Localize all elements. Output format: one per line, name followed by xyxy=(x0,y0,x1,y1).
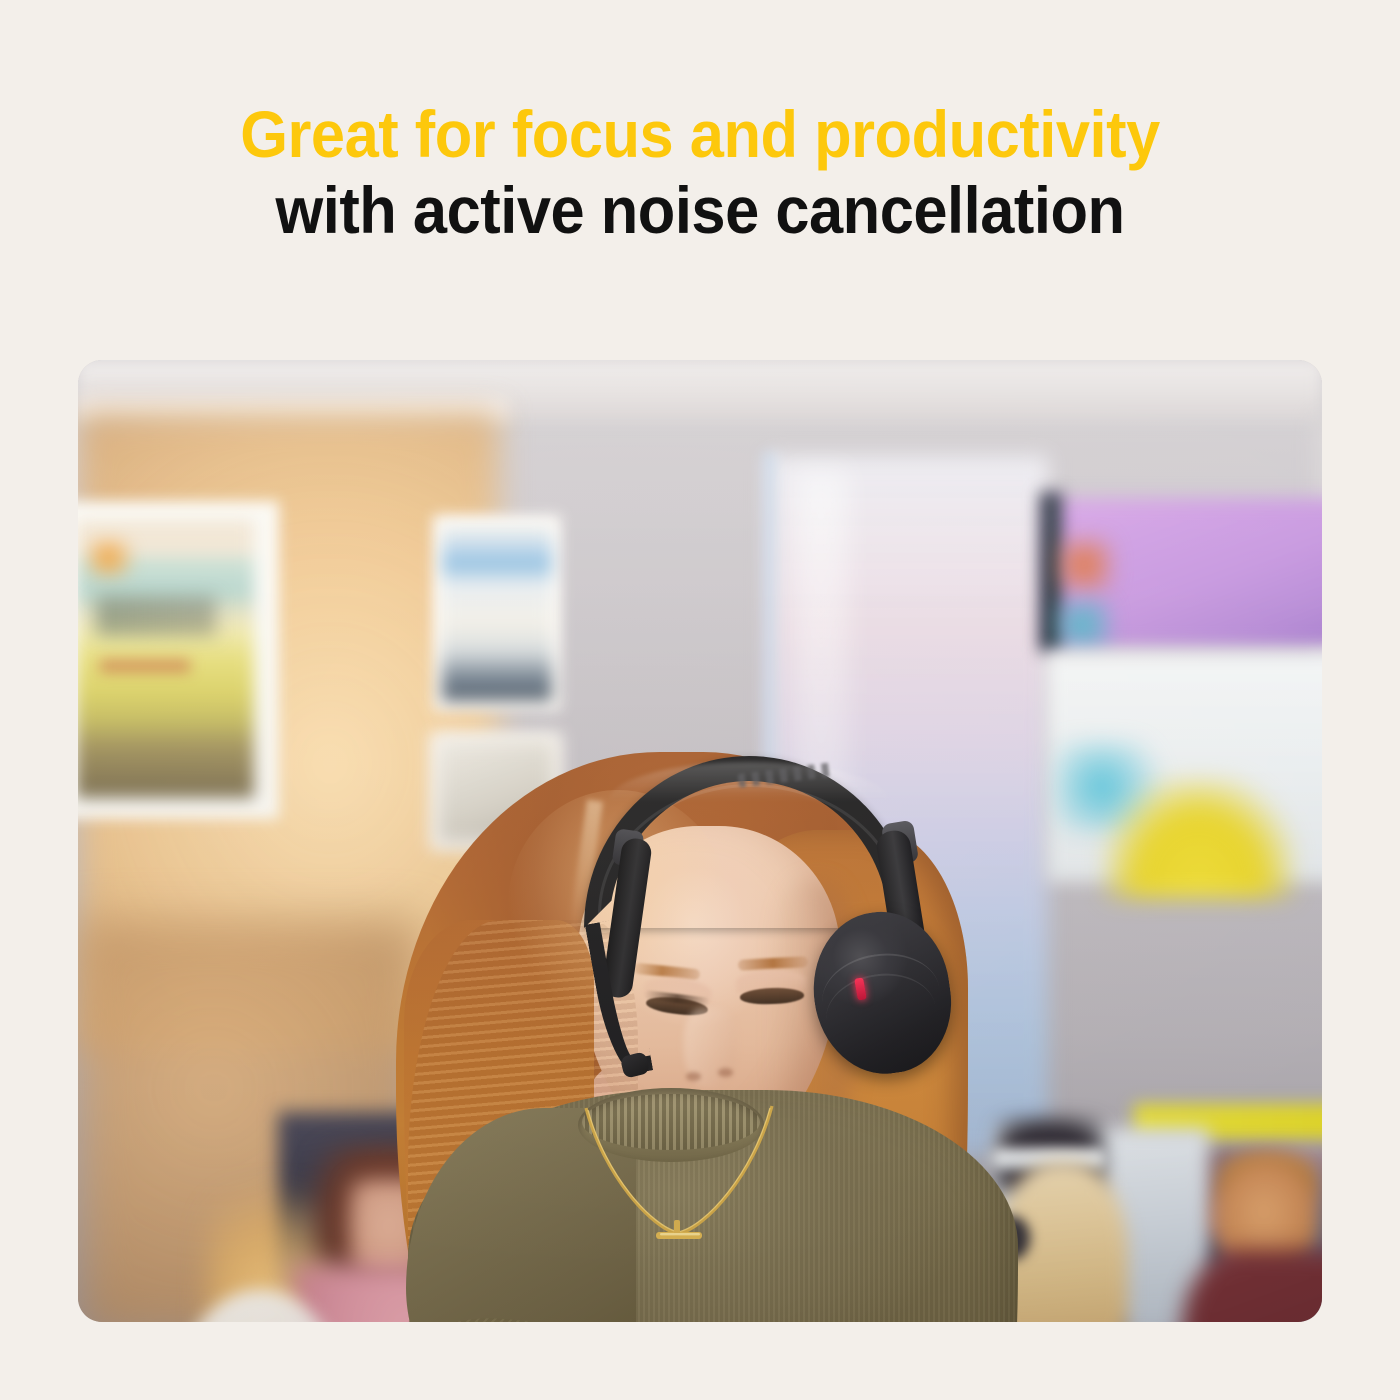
subject-nostril-right xyxy=(718,1068,733,1077)
headline-line-2: with active noise cancellation xyxy=(49,172,1351,248)
subject-nostril-left xyxy=(686,1072,701,1081)
headline-line-1: Great for focus and productivity xyxy=(49,96,1351,172)
poster-left-red-band xyxy=(100,660,190,672)
wall-art-orange-blob xyxy=(1056,538,1112,592)
gold-necklace xyxy=(548,1102,808,1302)
poster-left-orange-accent xyxy=(86,538,142,578)
headline-block: Great for focus and productivity with ac… xyxy=(0,96,1400,248)
wall-art-yellow-dome xyxy=(1104,778,1294,898)
poster-canvas: Great for focus and productivity with ac… xyxy=(0,0,1400,1400)
lifestyle-photo xyxy=(78,360,1322,1322)
poster-left-dark-band xyxy=(96,596,216,636)
wall-art-teal-blob xyxy=(1052,598,1112,652)
framed-poster-mid-art xyxy=(442,525,552,701)
